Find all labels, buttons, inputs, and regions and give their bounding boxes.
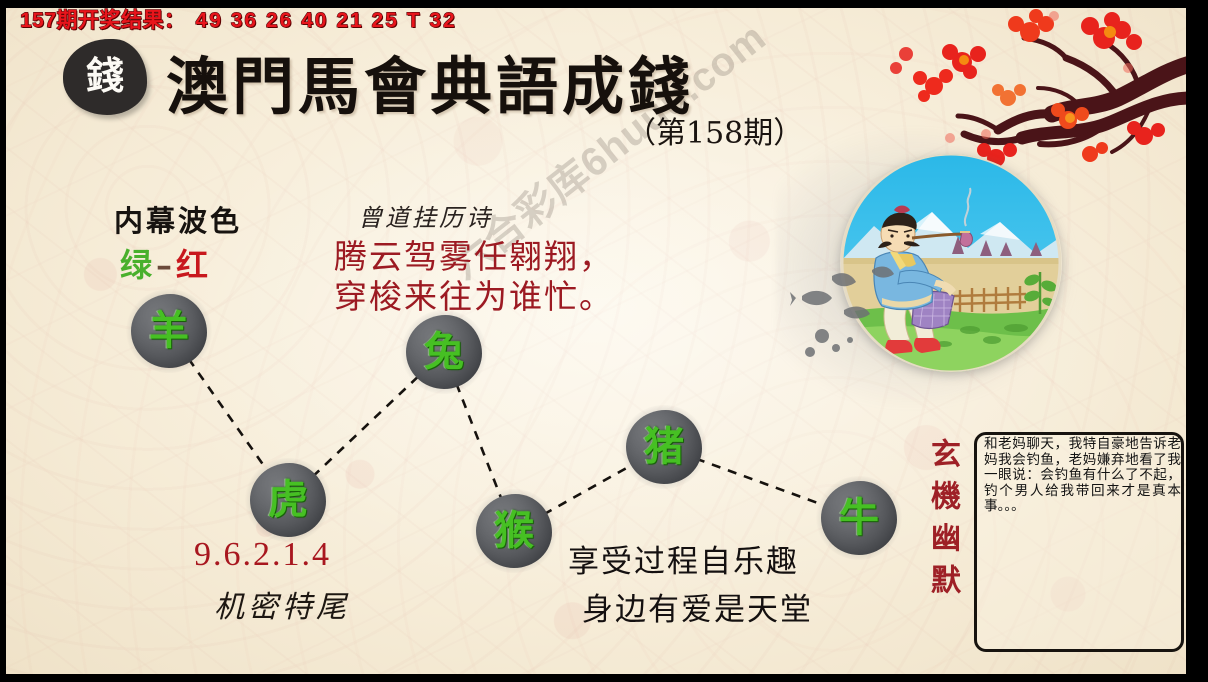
zodiac-node-label: 猪 bbox=[644, 427, 684, 467]
joke-text: 和老妈聊天，我特自豪地告诉老妈我会钓鱼，老妈嫌弃地看了我一眼说：会钓鱼有什么了不… bbox=[980, 435, 1186, 515]
zodiac-node-label: 羊 bbox=[149, 311, 189, 351]
humor-vertical-label: 玄機幽默 bbox=[922, 438, 964, 606]
zodiac-node-1[interactable]: 兔 bbox=[406, 315, 482, 389]
brand-seal-icon: 錢 bbox=[63, 39, 147, 115]
ink-splash-fish-icon bbox=[788, 248, 908, 368]
saying-line-1: 享受过程自乐趣 bbox=[568, 536, 799, 581]
poem-heading: 曾道挂历诗 bbox=[358, 198, 493, 233]
zodiac-node-label: 虎 bbox=[268, 480, 308, 520]
result-label: 157期开奖结果： bbox=[20, 9, 186, 32]
secret-tail-numbers: 9.6.2.1.4 bbox=[194, 536, 331, 574]
poster-canvas: 157期开奖结果：49 36 26 40 21 25 T 32 錢 澳門馬會典語… bbox=[0, 0, 1208, 682]
lottery-result-strip: 157期开奖结果：49 36 26 40 21 25 T 32 bbox=[20, 4, 457, 34]
saying-line-2: 身边有爱是天堂 bbox=[582, 584, 813, 629]
bose-dash: – bbox=[156, 246, 174, 284]
bose-red: 红 bbox=[176, 246, 210, 284]
poem-line-2: 穿梭来往为谁忙。 bbox=[334, 270, 614, 318]
zodiac-node-label: 猴 bbox=[494, 511, 534, 551]
zodiac-node-4[interactable]: 猴 bbox=[476, 494, 552, 568]
bose-label: 内幕波色 bbox=[114, 198, 242, 240]
secret-tail-label: 机密特尾 bbox=[214, 582, 350, 626]
page-title: 澳門馬會典語成錢 bbox=[166, 36, 694, 126]
zodiac-node-label: 兔 bbox=[424, 332, 464, 372]
seal-char: 錢 bbox=[86, 57, 124, 95]
bose-green: 绿 bbox=[120, 246, 154, 284]
issue-number: （第158期） bbox=[626, 108, 803, 152]
bose-value: 绿–红 bbox=[120, 240, 210, 286]
zodiac-node-2[interactable]: 虎 bbox=[250, 463, 326, 537]
zodiac-node-0[interactable]: 羊 bbox=[131, 294, 207, 368]
zodiac-node-3[interactable]: 猪 bbox=[626, 410, 702, 484]
result-numbers: 49 36 26 40 21 25 T 32 bbox=[196, 9, 457, 32]
zodiac-node-label: 牛 bbox=[839, 498, 879, 538]
zodiac-node-5[interactable]: 牛 bbox=[821, 481, 897, 555]
